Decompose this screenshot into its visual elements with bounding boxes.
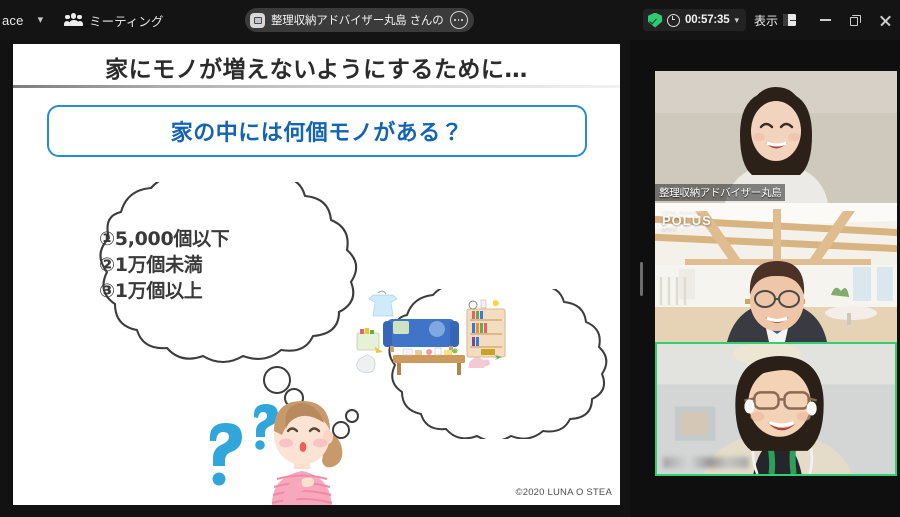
titlebar-right-group: 00:57:35 ▾ 表示 [643,0,900,40]
option-item: ①5,000個以下 [99,226,349,252]
screen-share-icon [250,13,265,28]
participant-name-label: 整理収納アドバイザー丸島 [655,184,785,201]
copyright-text: ©2020 LUNA O STEA [516,487,612,498]
view-label: 表示 [754,12,778,29]
option-item: ②1万個未満 [99,252,349,278]
meeting-window: ace ▾ ミーティング 整理収納アドバイザー丸島 さんの 00:57:35 ▾ [0,0,900,517]
thinking-woman-illustration [198,389,368,505]
video-feed [657,344,895,474]
restore-button[interactable] [840,0,870,40]
panel-resize-divider[interactable] [630,40,652,517]
shared-content-pill[interactable]: 整理収納アドバイザー丸島 さんの [245,8,474,32]
meeting-tab[interactable]: ミーティング [65,11,163,30]
resize-handle[interactable] [640,262,643,296]
timer-value: 00:57:35 [685,14,729,26]
people-icon [65,13,82,27]
meeting-label: ミーティング [89,11,163,30]
share-owner-title: 整理収納アドバイザー丸島 さんの [271,12,444,28]
chevron-down-icon[interactable]: ▾ [24,15,54,26]
presentation-slide: 家にモノが増えないようにするために… 家の中には何個モノがある？ ①5,000個… [13,44,620,505]
thought-bubble-room [345,289,613,439]
title-divider [13,85,620,88]
account-label[interactable]: ace [0,13,24,28]
option-list: ①5,000個以下 ②1万個未満 ③1万個以上 [99,226,349,305]
minimize-button[interactable] [810,0,840,40]
participant-tile[interactable]: TOTAL HOUSING POLUS ポラス [655,203,897,342]
title-bar: ace ▾ ミーティング 整理収納アドバイザー丸島 さんの 00:57:35 ▾ [0,0,900,40]
option-item: ③1万個以上 [99,278,349,304]
view-layout-button[interactable]: 表示 [754,12,796,29]
participant-video-panel: 整理収納アドバイザー丸島 [652,40,900,517]
participant-tile[interactable]: 整理収納アドバイザー丸島 [655,71,897,203]
shield-check-icon [648,13,662,28]
polus-logo: TOTAL HOUSING POLUS ポラス [662,209,712,232]
logo-subtext: ポラス [662,226,712,232]
more-options-icon[interactable] [450,11,468,29]
messy-room-illustration [345,289,525,384]
blurred-name-label [663,457,749,468]
clock-icon [667,14,680,27]
question-box: 家の中には何個モノがある？ [47,105,587,157]
chevron-down-icon[interactable]: ▾ [734,15,739,26]
participant-tile-active-speaker[interactable] [655,342,897,476]
logo-tagline: TOTAL HOUSING [662,209,712,214]
close-button[interactable] [870,0,900,40]
woman-figure [198,389,368,505]
thought-bubble-options: ①5,000個以下 ②1万個未満 ③1万個以上 [51,182,361,367]
slide-title: 家にモノが増えないようにするために… [13,50,620,84]
layout-grid-icon [783,14,796,26]
shared-screen-stage: 家にモノが増えないようにするために… 家の中には何個モノがある？ ①5,000個… [0,40,630,517]
meeting-timer[interactable]: 00:57:35 ▾ [643,9,746,31]
titlebar-left-group: ace ▾ ミーティング [0,0,163,40]
question-text: 家の中には何個モノがある？ [171,115,464,147]
